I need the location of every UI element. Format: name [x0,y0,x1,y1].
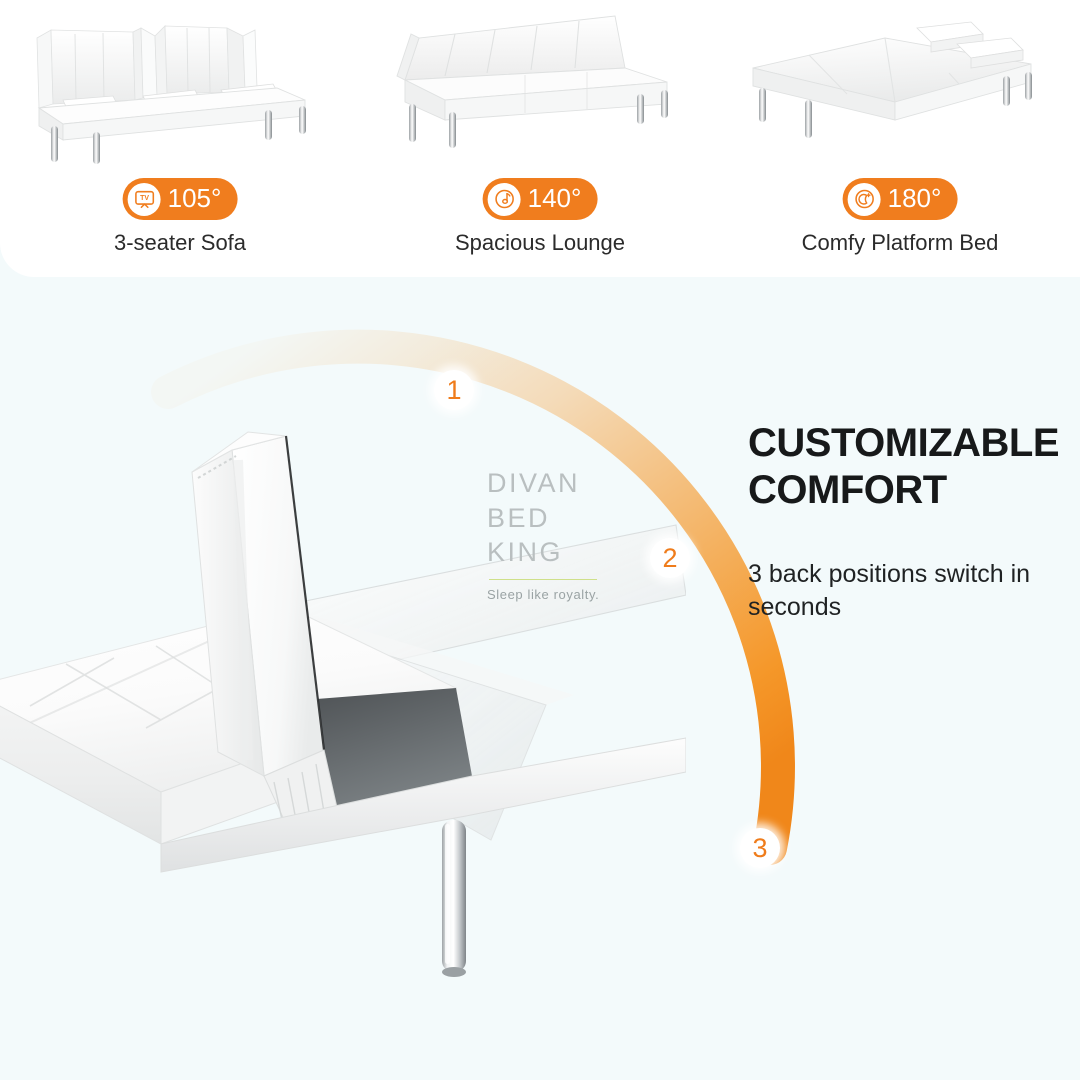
sofa-reclined-art [375,8,705,168]
position-card-lounge: 140° Spacious Lounge [360,0,720,277]
arc-marker-2: 2 [650,538,690,578]
sofa-upright-art [15,8,345,168]
badge-angle-lounge: 140° [528,185,582,213]
chrome-leg [442,820,466,977]
svg-text:TV: TV [140,195,149,202]
position-card-sofa: TV 105° 3-seater Sofa [0,0,360,277]
main-sofa-illustration [0,420,686,1080]
sofa-flat-bed-art [735,8,1065,168]
badge-lounge: 140° [483,178,598,220]
subheadline: 3 back positions switch in seconds [748,558,1080,624]
arc-marker-3: 3 [740,828,780,868]
badge-angle-bed: 180° [888,185,942,213]
tv-icon: TV [128,183,161,216]
badge-sofa: TV 105° [123,178,238,220]
position-card-bed: 180° Comfy Platform Bed [720,0,1080,277]
caption-bed: Comfy Platform Bed [720,230,1080,256]
badge-angle-sofa: 105° [168,185,222,213]
caption-sofa: 3-seater Sofa [0,230,360,256]
badge-bed: 180° [843,178,958,220]
music-note-icon [488,183,521,216]
positions-panel: TV 105° 3-seater Sofa [0,0,1080,277]
moon-star-icon [848,183,881,216]
page-title: CUSTOMIZABLE COMFORT [748,420,1080,514]
product-infographic: 1 2 3 DIVAN BED KING Sleep like royalty.… [0,0,1080,1080]
caption-lounge: Spacious Lounge [360,230,720,256]
arc-marker-1: 1 [434,370,474,410]
